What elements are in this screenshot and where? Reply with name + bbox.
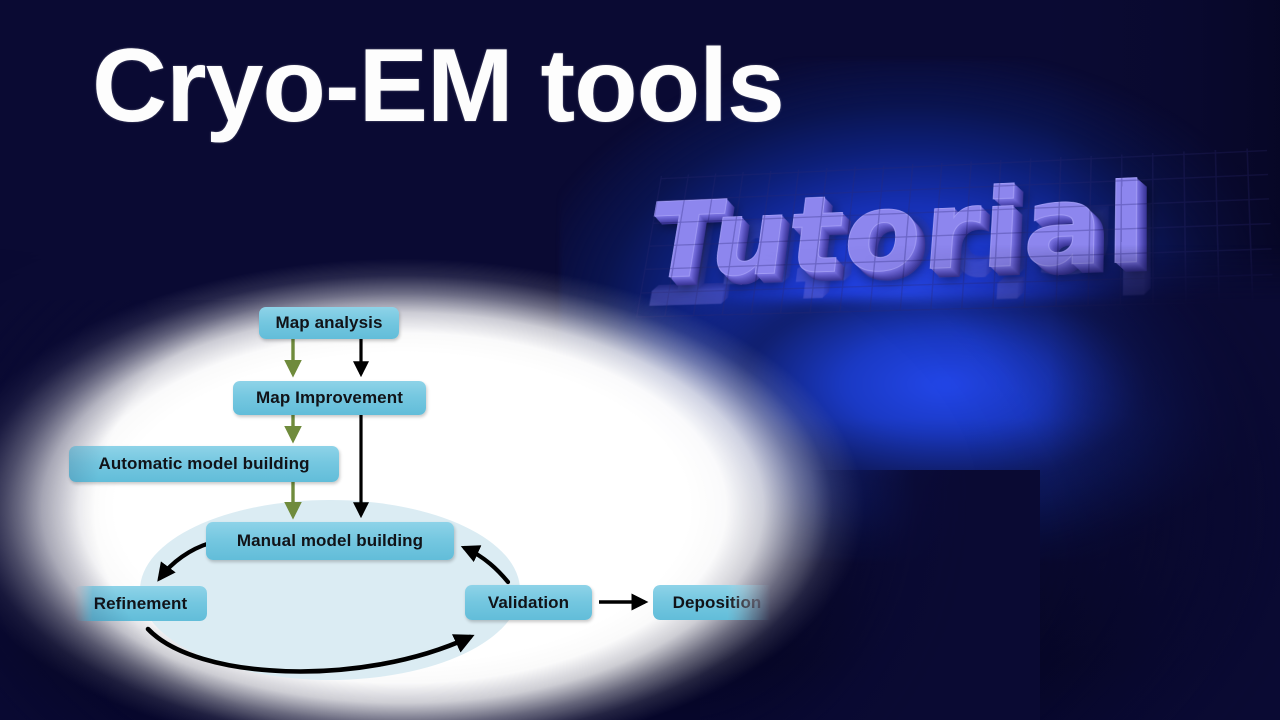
node-automatic-model-building[interactable]: Automatic model building <box>69 446 339 482</box>
cryoem-workflow-diagram: Map analysis Map Improvement Automatic m… <box>0 0 1280 720</box>
node-manual-model-building[interactable]: Manual model building <box>206 522 454 560</box>
slide-canvas: Tutorial Tutorial Cryo-EM tools <box>0 0 1280 720</box>
node-map-analysis[interactable]: Map analysis <box>259 307 399 339</box>
node-deposition[interactable]: Deposition <box>653 585 781 620</box>
node-validation[interactable]: Validation <box>465 585 592 620</box>
node-map-improvement[interactable]: Map Improvement <box>233 381 426 415</box>
node-refinement[interactable]: Refinement <box>74 586 207 621</box>
